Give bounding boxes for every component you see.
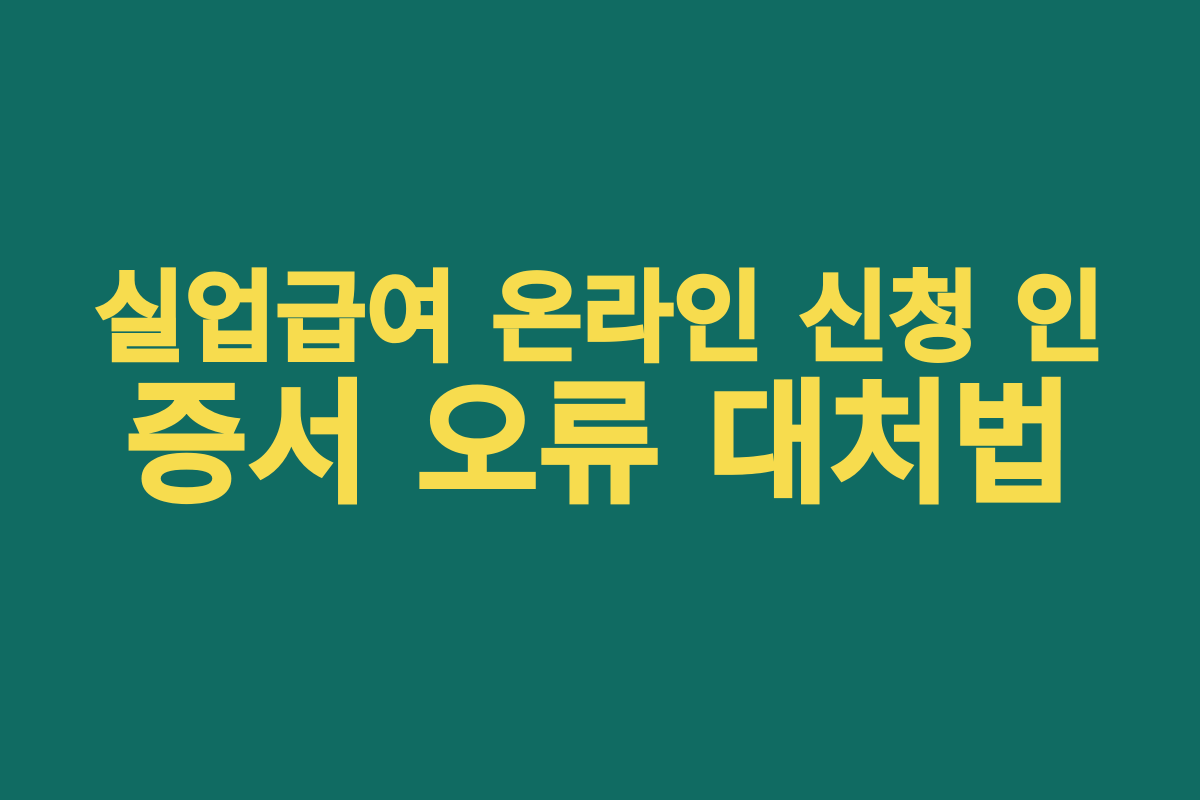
headline-line-1: 실업급여 온라인 신청 인 xyxy=(90,266,1110,374)
headline-block: 실업급여 온라인 신청 인 증서 오류 대처법 xyxy=(70,266,1130,519)
thumbnail-canvas: 실업급여 온라인 신청 인 증서 오류 대처법 xyxy=(0,0,1200,800)
headline-line-2: 증서 오류 대처법 xyxy=(90,373,1110,518)
